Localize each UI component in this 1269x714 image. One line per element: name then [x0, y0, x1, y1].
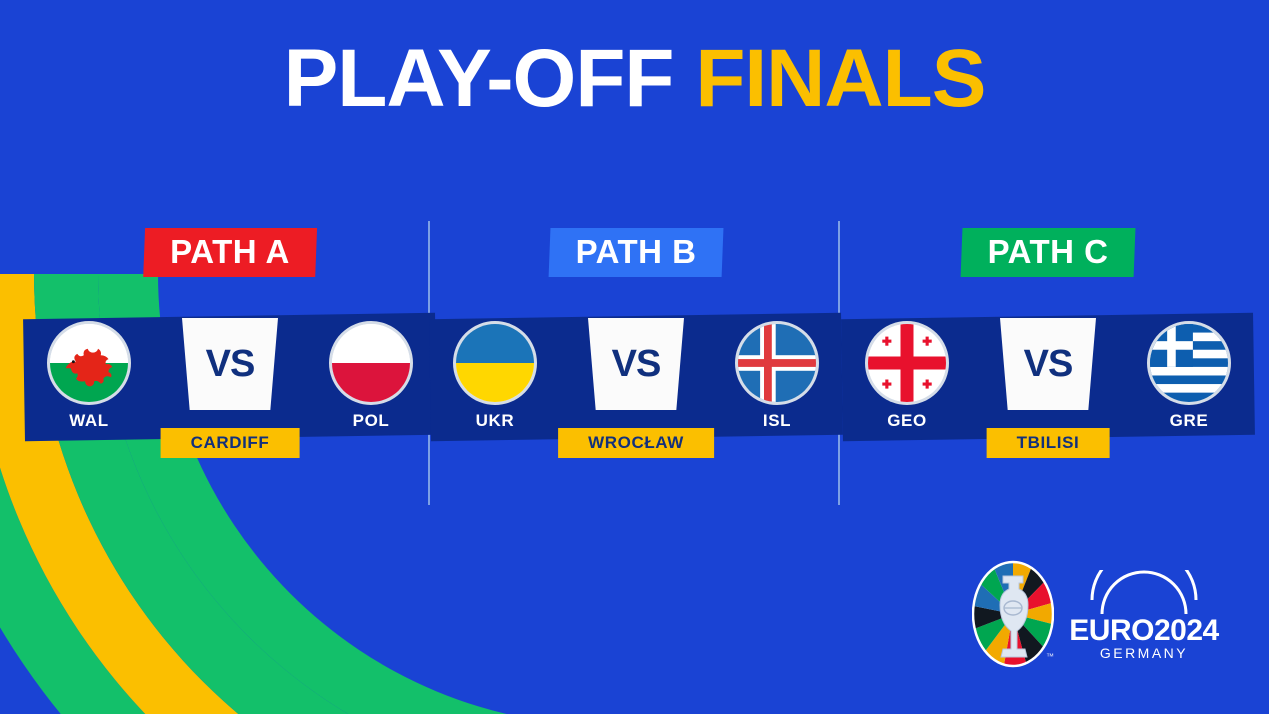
vs-shield-b: VS: [588, 318, 684, 410]
team-code-away-a: POL: [326, 411, 416, 431]
greece-flag-icon: [1147, 321, 1231, 405]
vs-shield-a: VS: [182, 318, 278, 410]
vs-label-a: VS: [206, 345, 255, 383]
euro-2024-logo: ™ UEFA EURO2024 GERMANY: [972, 560, 1222, 672]
path-column-c: PATH C: [842, 228, 1254, 478]
team-code-away-b: ISL: [732, 411, 822, 431]
team-away-b[interactable]: ISL: [732, 321, 822, 431]
wales-flag-icon: [47, 321, 131, 405]
trademark-symbol: ™: [1046, 652, 1054, 661]
team-code-home-b: UKR: [450, 411, 540, 431]
vs-label-c: VS: [1024, 345, 1073, 383]
euro-2024-wordmark: UEFA EURO2024 GERMANY: [1066, 570, 1222, 662]
germany-text: GERMANY: [1100, 645, 1188, 661]
path-badge-a-label: PATH A: [170, 235, 290, 268]
path-badge-c[interactable]: PATH C: [961, 228, 1136, 277]
city-badge-b[interactable]: WROCŁAW: [558, 428, 714, 458]
team-away-c[interactable]: GRE: [1144, 321, 1234, 431]
team-code-home-c: GEO: [862, 411, 952, 431]
title-playoff: PLAY-OFF: [284, 33, 674, 124]
vs-label-b: VS: [612, 345, 661, 383]
path-badge-a[interactable]: PATH A: [143, 228, 317, 277]
team-code-home-a: WAL: [44, 411, 134, 431]
city-badge-a[interactable]: CARDIFF: [161, 428, 300, 458]
team-home-c[interactable]: GEO: [862, 321, 952, 431]
georgia-flag-icon: [865, 321, 949, 405]
poland-flag-icon: [329, 321, 413, 405]
vs-shield-c: VS: [1000, 318, 1096, 410]
city-badge-c[interactable]: TBILISI: [987, 428, 1110, 458]
path-column-a: PATH A WAL VS: [24, 228, 436, 478]
iceland-flag-icon: [735, 321, 819, 405]
henri-delaunay-trophy-icon: [972, 560, 1054, 668]
path-column-b: PATH B UKR VS: [430, 228, 842, 478]
match-content-b: UKR VS ISL WROCŁAW: [430, 316, 842, 466]
path-badge-c-label: PATH C: [988, 235, 1109, 268]
team-away-a[interactable]: POL: [326, 321, 416, 431]
team-home-a[interactable]: WAL: [44, 321, 134, 431]
ukraine-flag-icon: [453, 321, 537, 405]
match-content-a: WAL VS POL CARDIFF: [24, 316, 436, 466]
match-content-c: GEO VS GRE: [842, 316, 1254, 466]
title-finals: FINALS: [695, 33, 985, 124]
path-badge-b[interactable]: PATH B: [549, 228, 724, 277]
team-home-b[interactable]: UKR: [450, 321, 540, 431]
team-code-away-c: GRE: [1144, 411, 1234, 431]
euro-year-text: EURO2024: [1069, 614, 1219, 647]
page-title: PLAY-OFF FINALS: [0, 38, 1269, 120]
path-badge-b-label: PATH B: [576, 235, 697, 268]
playoff-finals-graphic: PLAY-OFF FINALS PATH A WAL: [0, 0, 1269, 714]
